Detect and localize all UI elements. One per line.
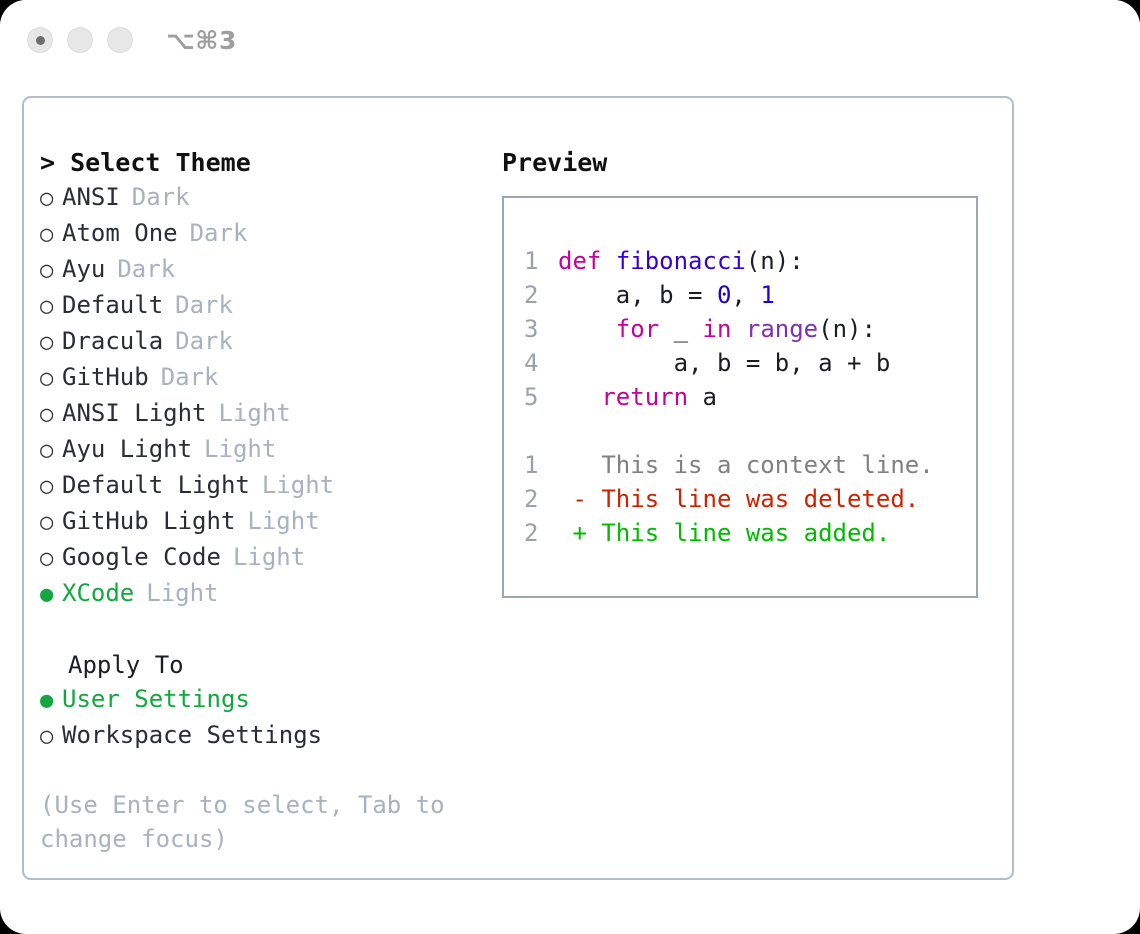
window-controls bbox=[27, 27, 133, 53]
radio-unselected-icon: ○ bbox=[40, 720, 62, 754]
apply-to-option[interactable]: ○Workspace Settings bbox=[40, 718, 494, 754]
radio-unselected-icon: ○ bbox=[40, 506, 62, 540]
code-token: (n): bbox=[818, 315, 876, 343]
terminal-window: ⌥⌘3 > Select Theme ○ANSIDark○Atom OneDar… bbox=[0, 0, 1140, 934]
code-line-text: return a bbox=[558, 380, 717, 414]
theme-option[interactable]: ○DraculaDark bbox=[40, 324, 494, 360]
theme-option-variant-tag: Dark bbox=[175, 324, 233, 358]
window-titlebar: ⌥⌘3 bbox=[0, 0, 1140, 80]
plain-dot-1-icon[interactable] bbox=[67, 27, 93, 53]
radio-unselected-icon: ○ bbox=[40, 470, 62, 504]
theme-option-variant-tag: Dark bbox=[175, 288, 233, 322]
record-dot-icon[interactable] bbox=[27, 27, 53, 53]
theme-option[interactable]: ○GitHubDark bbox=[40, 360, 494, 396]
code-token: (n): bbox=[746, 247, 804, 275]
theme-option-variant-tag: Light bbox=[247, 504, 319, 538]
theme-option[interactable]: ○Default LightLight bbox=[40, 468, 494, 504]
line-number: 1 bbox=[524, 448, 558, 482]
code-line: 1def fibonacci(n): bbox=[524, 244, 976, 278]
theme-option[interactable]: ○DefaultDark bbox=[40, 288, 494, 324]
diff-line: 1 This is a context line. bbox=[524, 448, 976, 482]
apply-to-option-label: User Settings bbox=[62, 682, 250, 716]
diff-line: 2 - This line was deleted. bbox=[524, 482, 976, 516]
code-token: 1 bbox=[760, 281, 774, 309]
theme-option-label: GitHub bbox=[62, 360, 149, 394]
theme-list: ○ANSIDark○Atom OneDark○AyuDark○DefaultDa… bbox=[40, 180, 494, 612]
radio-unselected-icon: ○ bbox=[40, 434, 62, 468]
theme-option-variant-tag: Dark bbox=[190, 216, 248, 250]
code-token bbox=[601, 247, 615, 275]
theme-option[interactable]: ○AyuDark bbox=[40, 252, 494, 288]
code-token: range bbox=[746, 315, 818, 343]
theme-option-label: GitHub Light bbox=[62, 504, 235, 538]
record-dot-inner bbox=[36, 36, 45, 45]
code-line: 3 for _ in range(n): bbox=[524, 312, 976, 346]
code-token: _ bbox=[659, 315, 702, 343]
code-token: in bbox=[703, 315, 732, 343]
code-token: a, b = b, a + b bbox=[558, 349, 890, 377]
diff-line: 2 + This line was added. bbox=[524, 516, 976, 550]
theme-option-variant-tag: Dark bbox=[161, 360, 219, 394]
theme-option-label: Google Code bbox=[62, 540, 221, 574]
code-token: def bbox=[558, 247, 601, 275]
radio-unselected-icon: ○ bbox=[40, 182, 62, 216]
line-number: 4 bbox=[524, 346, 558, 380]
radio-unselected-icon: ○ bbox=[40, 398, 62, 432]
line-number: 2 bbox=[524, 482, 558, 516]
theme-option-variant-tag: Light bbox=[262, 468, 334, 502]
code-line: 4 a, b = b, a + b bbox=[524, 346, 976, 380]
theme-option-variant-tag: Dark bbox=[117, 252, 175, 286]
preview-title: Preview bbox=[502, 146, 1012, 180]
theme-option[interactable]: ○GitHub LightLight bbox=[40, 504, 494, 540]
select-theme-heading-label: Select Theme bbox=[70, 148, 251, 177]
theme-option-label: Ayu bbox=[62, 252, 105, 286]
plain-dot-2-icon[interactable] bbox=[107, 27, 133, 53]
radio-unselected-icon: ○ bbox=[40, 218, 62, 252]
radio-unselected-icon: ○ bbox=[40, 290, 62, 324]
code-line-text: a, b = b, a + b bbox=[558, 346, 890, 380]
radio-unselected-icon: ○ bbox=[40, 542, 62, 576]
code-token: a, b = bbox=[558, 281, 717, 309]
select-theme-heading: > Select Theme bbox=[40, 146, 494, 180]
diff-line-text: - This line was deleted. bbox=[558, 482, 919, 516]
code-token: 0 bbox=[717, 281, 731, 309]
theme-option-label: Default Light bbox=[62, 468, 250, 502]
theme-option[interactable]: ○ANSIDark bbox=[40, 180, 494, 216]
apply-to-option-label: Workspace Settings bbox=[62, 718, 322, 752]
theme-option[interactable]: ○Google CodeLight bbox=[40, 540, 494, 576]
theme-option-variant-tag: Light bbox=[233, 540, 305, 574]
tui-panel: > Select Theme ○ANSIDark○Atom OneDark○Ay… bbox=[22, 96, 1014, 880]
theme-option-label: ANSI bbox=[62, 180, 120, 214]
code-token: for bbox=[616, 315, 659, 343]
theme-option-label: Ayu Light bbox=[62, 432, 192, 466]
code-line: 2 a, b = 0, 1 bbox=[524, 278, 976, 312]
theme-option-label: XCode bbox=[62, 576, 134, 610]
code-token bbox=[558, 315, 616, 343]
apply-to-heading: Apply To bbox=[68, 648, 494, 682]
line-number: 3 bbox=[524, 312, 558, 346]
code-token: This is a context line. bbox=[558, 451, 934, 479]
theme-option-label: Dracula bbox=[62, 324, 163, 358]
diff-line-text: This is a context line. bbox=[558, 448, 934, 482]
theme-option-variant-tag: Light bbox=[204, 432, 276, 466]
theme-option-variant-tag: Light bbox=[219, 396, 291, 430]
code-token: return bbox=[601, 383, 688, 411]
radio-selected-icon: ● bbox=[40, 578, 62, 612]
diff-sample: 1 This is a context line.2 - This line w… bbox=[524, 448, 976, 550]
line-number: 1 bbox=[524, 244, 558, 278]
preview-column: Preview 1def fibonacci(n):2 a, b = 0, 13… bbox=[494, 98, 1012, 878]
caret-icon: > bbox=[40, 148, 55, 177]
code-token bbox=[731, 315, 745, 343]
code-token bbox=[558, 383, 601, 411]
line-number: 5 bbox=[524, 380, 558, 414]
code-line: 5 return a bbox=[524, 380, 976, 414]
code-token: fibonacci bbox=[616, 247, 746, 275]
code-token: + This line was added. bbox=[558, 519, 890, 547]
keyboard-shortcut-label: ⌥⌘3 bbox=[166, 26, 237, 55]
theme-option-variant-tag: Dark bbox=[132, 180, 190, 214]
code-line-text: a, b = 0, 1 bbox=[558, 278, 775, 312]
code-token: a bbox=[688, 383, 717, 411]
theme-option-label: Atom One bbox=[62, 216, 178, 250]
code-token: , bbox=[731, 281, 760, 309]
theme-option[interactable]: ○Ayu LightLight bbox=[40, 432, 494, 468]
preview-box: 1def fibonacci(n):2 a, b = 0, 13 for _ i… bbox=[502, 196, 978, 598]
line-number: 2 bbox=[524, 278, 558, 312]
radio-selected-icon: ● bbox=[40, 684, 62, 718]
theme-option-label: Default bbox=[62, 288, 163, 322]
theme-option[interactable]: ●XCodeLight bbox=[40, 576, 494, 612]
line-number: 2 bbox=[524, 516, 558, 550]
diff-line-text: + This line was added. bbox=[558, 516, 890, 550]
apply-to-list: ●User Settings○Workspace Settings bbox=[40, 682, 494, 754]
radio-unselected-icon: ○ bbox=[40, 326, 62, 360]
keyboard-hint: (Use Enter to select, Tab to change focu… bbox=[40, 788, 460, 856]
apply-to-option[interactable]: ●User Settings bbox=[40, 682, 494, 718]
theme-option[interactable]: ○Atom OneDark bbox=[40, 216, 494, 252]
theme-selector-column: > Select Theme ○ANSIDark○Atom OneDark○Ay… bbox=[24, 98, 494, 878]
code-sample: 1def fibonacci(n):2 a, b = 0, 13 for _ i… bbox=[524, 244, 976, 414]
theme-option-variant-tag: Light bbox=[146, 576, 218, 610]
code-token: - This line was deleted. bbox=[558, 485, 919, 513]
radio-unselected-icon: ○ bbox=[40, 362, 62, 396]
theme-option[interactable]: ○ANSI LightLight bbox=[40, 396, 494, 432]
code-line-text: def fibonacci(n): bbox=[558, 244, 804, 278]
radio-unselected-icon: ○ bbox=[40, 254, 62, 288]
code-line-text: for _ in range(n): bbox=[558, 312, 876, 346]
code-diff-spacer bbox=[524, 414, 976, 448]
theme-option-label: ANSI Light bbox=[62, 396, 207, 430]
